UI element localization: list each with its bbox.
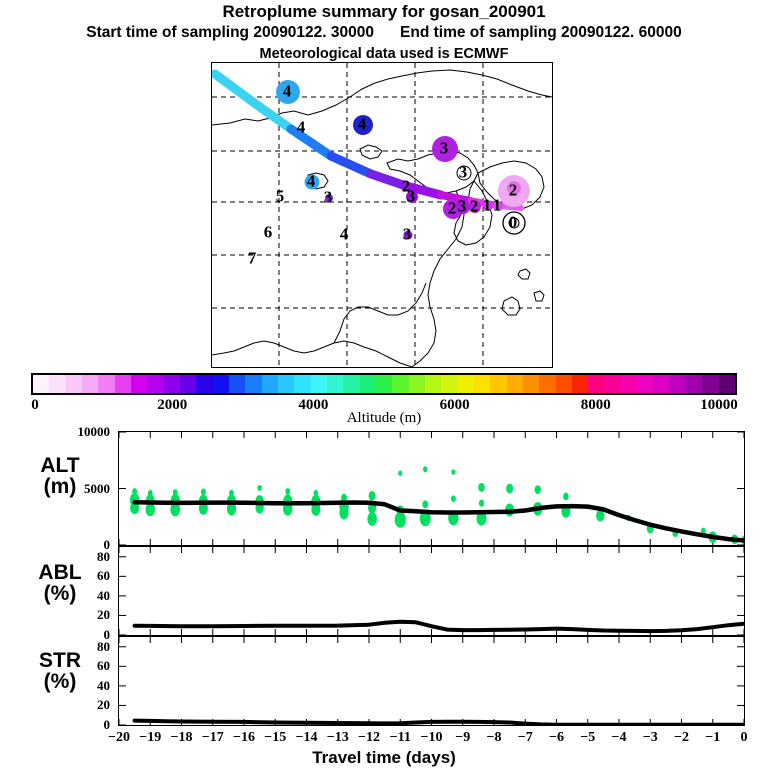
xtick--14: −14	[296, 730, 318, 746]
map-cluster-label-8: 7	[248, 250, 257, 267]
colorbar-swatch-28	[490, 375, 506, 393]
colorbar-swatch-41	[702, 375, 718, 393]
map-canvas	[212, 63, 552, 367]
colorbar-swatch-26	[458, 375, 474, 393]
colorbar-swatch-7	[147, 375, 163, 393]
particle-scatter	[130, 466, 744, 544]
colorbar-title: Altitude (m)	[0, 410, 768, 427]
colorbar-swatch-33	[572, 375, 588, 393]
colorbar-swatch-40	[686, 375, 702, 393]
colorbar-swatch-32	[556, 375, 572, 393]
map-cluster-label-20: 0	[509, 214, 518, 231]
map-cluster-label-18: 1	[493, 197, 502, 214]
colorbar-swatch-11	[213, 375, 229, 393]
xtick--4: −4	[612, 730, 627, 746]
map-cluster-label-19: 2	[509, 182, 518, 199]
sampling-time-row: Start time of sampling 20090122. 30000 E…	[0, 24, 768, 42]
map-cluster-label-15: 3	[458, 198, 467, 215]
trajectory-track	[215, 74, 521, 208]
map-cluster-label-5: 3	[324, 189, 333, 206]
alt-plot	[119, 432, 744, 545]
colorbar-swatch-23	[409, 375, 425, 393]
meteorological-data-label: Meteorological data used is ECMWF	[0, 46, 768, 62]
colorbar-swatch-9	[180, 375, 196, 393]
colorbar-swatch-20	[360, 375, 376, 393]
str-ytick-40: 40	[52, 678, 110, 694]
end-time-label: End time of sampling 20090122. 60000	[400, 24, 682, 42]
colorbar-swatch-6	[131, 375, 147, 393]
map-cluster-label-1: 4	[297, 119, 306, 136]
colorbar-swatch-5	[115, 375, 131, 393]
mean-line-str	[135, 721, 744, 725]
colorbar-swatch-16	[294, 375, 310, 393]
x-axis-title: Travel time (days)	[0, 748, 768, 768]
mean-line-alt	[135, 502, 744, 540]
xtick--15: −15	[264, 730, 286, 746]
map-cluster-label-12: 3	[407, 188, 416, 205]
page-title: Retroplume summary for gosan_200901	[0, 2, 768, 22]
map-cluster-label-14: 2	[448, 200, 457, 217]
colorbar-swatch-19	[343, 375, 359, 393]
colorbar-swatch-18	[327, 375, 343, 393]
altitude-colorbar	[31, 373, 737, 395]
xtick--2: −2	[674, 730, 689, 746]
str-plot	[119, 637, 744, 725]
map-cluster-label-17: 1	[483, 197, 492, 214]
map-cluster-label-9: 3	[403, 226, 412, 243]
axis-ticks	[119, 547, 744, 635]
alt-ytick-10000: 10000	[52, 424, 110, 440]
abl-ytick-60: 60	[52, 568, 110, 584]
xtick--6: −6	[549, 730, 564, 746]
colorbar-swatch-30	[523, 375, 539, 393]
xtick--9: −9	[455, 730, 470, 746]
map-cluster-label-0: 4	[283, 83, 292, 100]
colorbar-swatch-37	[637, 375, 653, 393]
colorbar-swatch-3	[82, 375, 98, 393]
colorbar-swatch-14	[262, 375, 278, 393]
xtick--20: −20	[108, 730, 130, 746]
colorbar-swatch-8	[164, 375, 180, 393]
xtick--12: −12	[358, 730, 380, 746]
colorbar-swatch-4	[98, 375, 114, 393]
axis-ticks	[119, 637, 744, 725]
colorbar-swatch-13	[245, 375, 261, 393]
xtick--7: −7	[518, 730, 533, 746]
colorbar-swatch-42	[719, 375, 735, 393]
map-cluster-label-4: 5	[276, 188, 285, 205]
str-ytick-60: 60	[52, 658, 110, 674]
colorbar-swatch-29	[507, 375, 523, 393]
str-ytick-80: 80	[52, 639, 110, 655]
alt-ytick-5000: 5000	[52, 481, 110, 497]
colorbar-swatch-21	[376, 375, 392, 393]
xtick--13: −13	[327, 730, 349, 746]
colorbar-swatch-31	[539, 375, 555, 393]
abl-ytick-80: 80	[52, 549, 110, 565]
abl-ytick-40: 40	[52, 588, 110, 604]
colorbar-swatch-0	[33, 375, 49, 393]
colorbar-swatch-1	[49, 375, 65, 393]
start-time-label: Start time of sampling 20090122. 30000	[86, 24, 374, 42]
colorbar-swatch-12	[229, 375, 245, 393]
xtick--3: −3	[643, 730, 658, 746]
mean-line-abl	[135, 622, 744, 631]
xtick--18: −18	[171, 730, 193, 746]
xtick--16: −16	[233, 730, 255, 746]
colorbar-swatch-35	[604, 375, 620, 393]
map-cluster-label-11: 3	[440, 140, 449, 157]
colorbar-swatch-17	[311, 375, 327, 393]
map-cluster-label-7: 4	[340, 226, 349, 243]
str-ytick-0: 0	[52, 717, 110, 733]
abl-panel	[118, 546, 745, 636]
colorbar-swatch-24	[425, 375, 441, 393]
retroplume-map	[211, 62, 553, 368]
map-cluster-label-13: 3	[459, 164, 468, 181]
str-ytick-20: 20	[52, 697, 110, 713]
colorbar-swatch-34	[588, 375, 604, 393]
colorbar-swatch-25	[441, 375, 457, 393]
abl-plot	[119, 547, 744, 635]
xtick--11: −11	[390, 730, 411, 746]
colorbar-swatch-39	[670, 375, 686, 393]
map-cluster-label-3: 4	[307, 173, 316, 190]
colorbar-swatch-2	[66, 375, 82, 393]
xtick--5: −5	[580, 730, 595, 746]
xtick--8: −8	[487, 730, 502, 746]
map-cluster-label-6: 6	[264, 224, 273, 241]
map-cluster-label-2: 4	[358, 116, 367, 133]
colorbar-swatch-22	[392, 375, 408, 393]
xtick--17: −17	[202, 730, 224, 746]
str-panel	[118, 636, 745, 726]
xtick--19: −19	[139, 730, 161, 746]
alt-label-line1: ALT	[8, 455, 112, 476]
colorbar-swatch-27	[474, 375, 490, 393]
xtick--1: −1	[705, 730, 720, 746]
xtick-0: 0	[741, 730, 748, 746]
colorbar-swatch-10	[196, 375, 212, 393]
map-cluster-label-16: 2	[470, 198, 479, 215]
abl-ytick-20: 20	[52, 607, 110, 623]
alt-panel	[118, 431, 745, 546]
colorbar-swatch-38	[653, 375, 669, 393]
xtick--10: −10	[421, 730, 443, 746]
colorbar-swatch-36	[621, 375, 637, 393]
colorbar-swatch-15	[278, 375, 294, 393]
